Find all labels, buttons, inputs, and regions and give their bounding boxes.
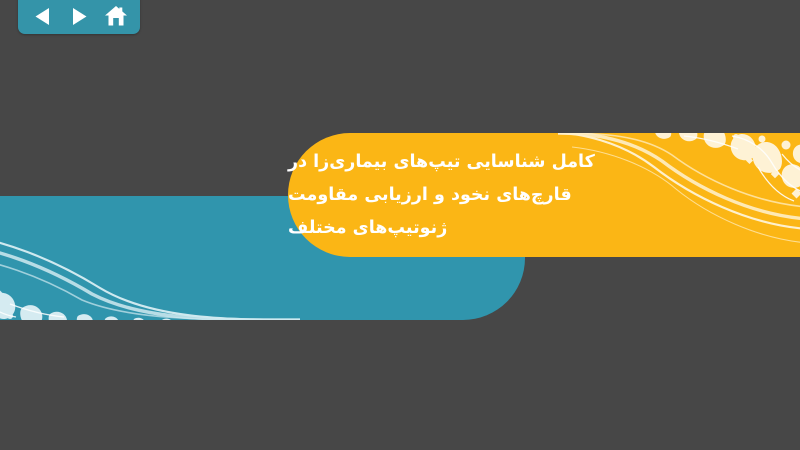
title-line-3: ژنوتیپ‌های مختلف [288,212,447,245]
back-button[interactable] [27,3,57,29]
title-line-2: قارچ‌های نخود و ارزیابی مقاومت [288,179,572,212]
title-line-1: کامل شناسایی تیپ‌های بیماری‌زا در [288,146,595,179]
triangle-left-icon [34,7,51,26]
home-button[interactable] [101,3,131,29]
slide-title: کامل شناسایی تیپ‌های بیماری‌زا در قارچ‌ه… [288,136,800,254]
navigation-bar [18,0,140,34]
triangle-right-icon [71,7,88,26]
slide-canvas: کامل شناسایی تیپ‌های بیماری‌زا در قارچ‌ه… [0,0,800,450]
forward-button[interactable] [64,3,94,29]
teal-arabesque-ornament [0,196,300,320]
home-icon [104,5,128,27]
